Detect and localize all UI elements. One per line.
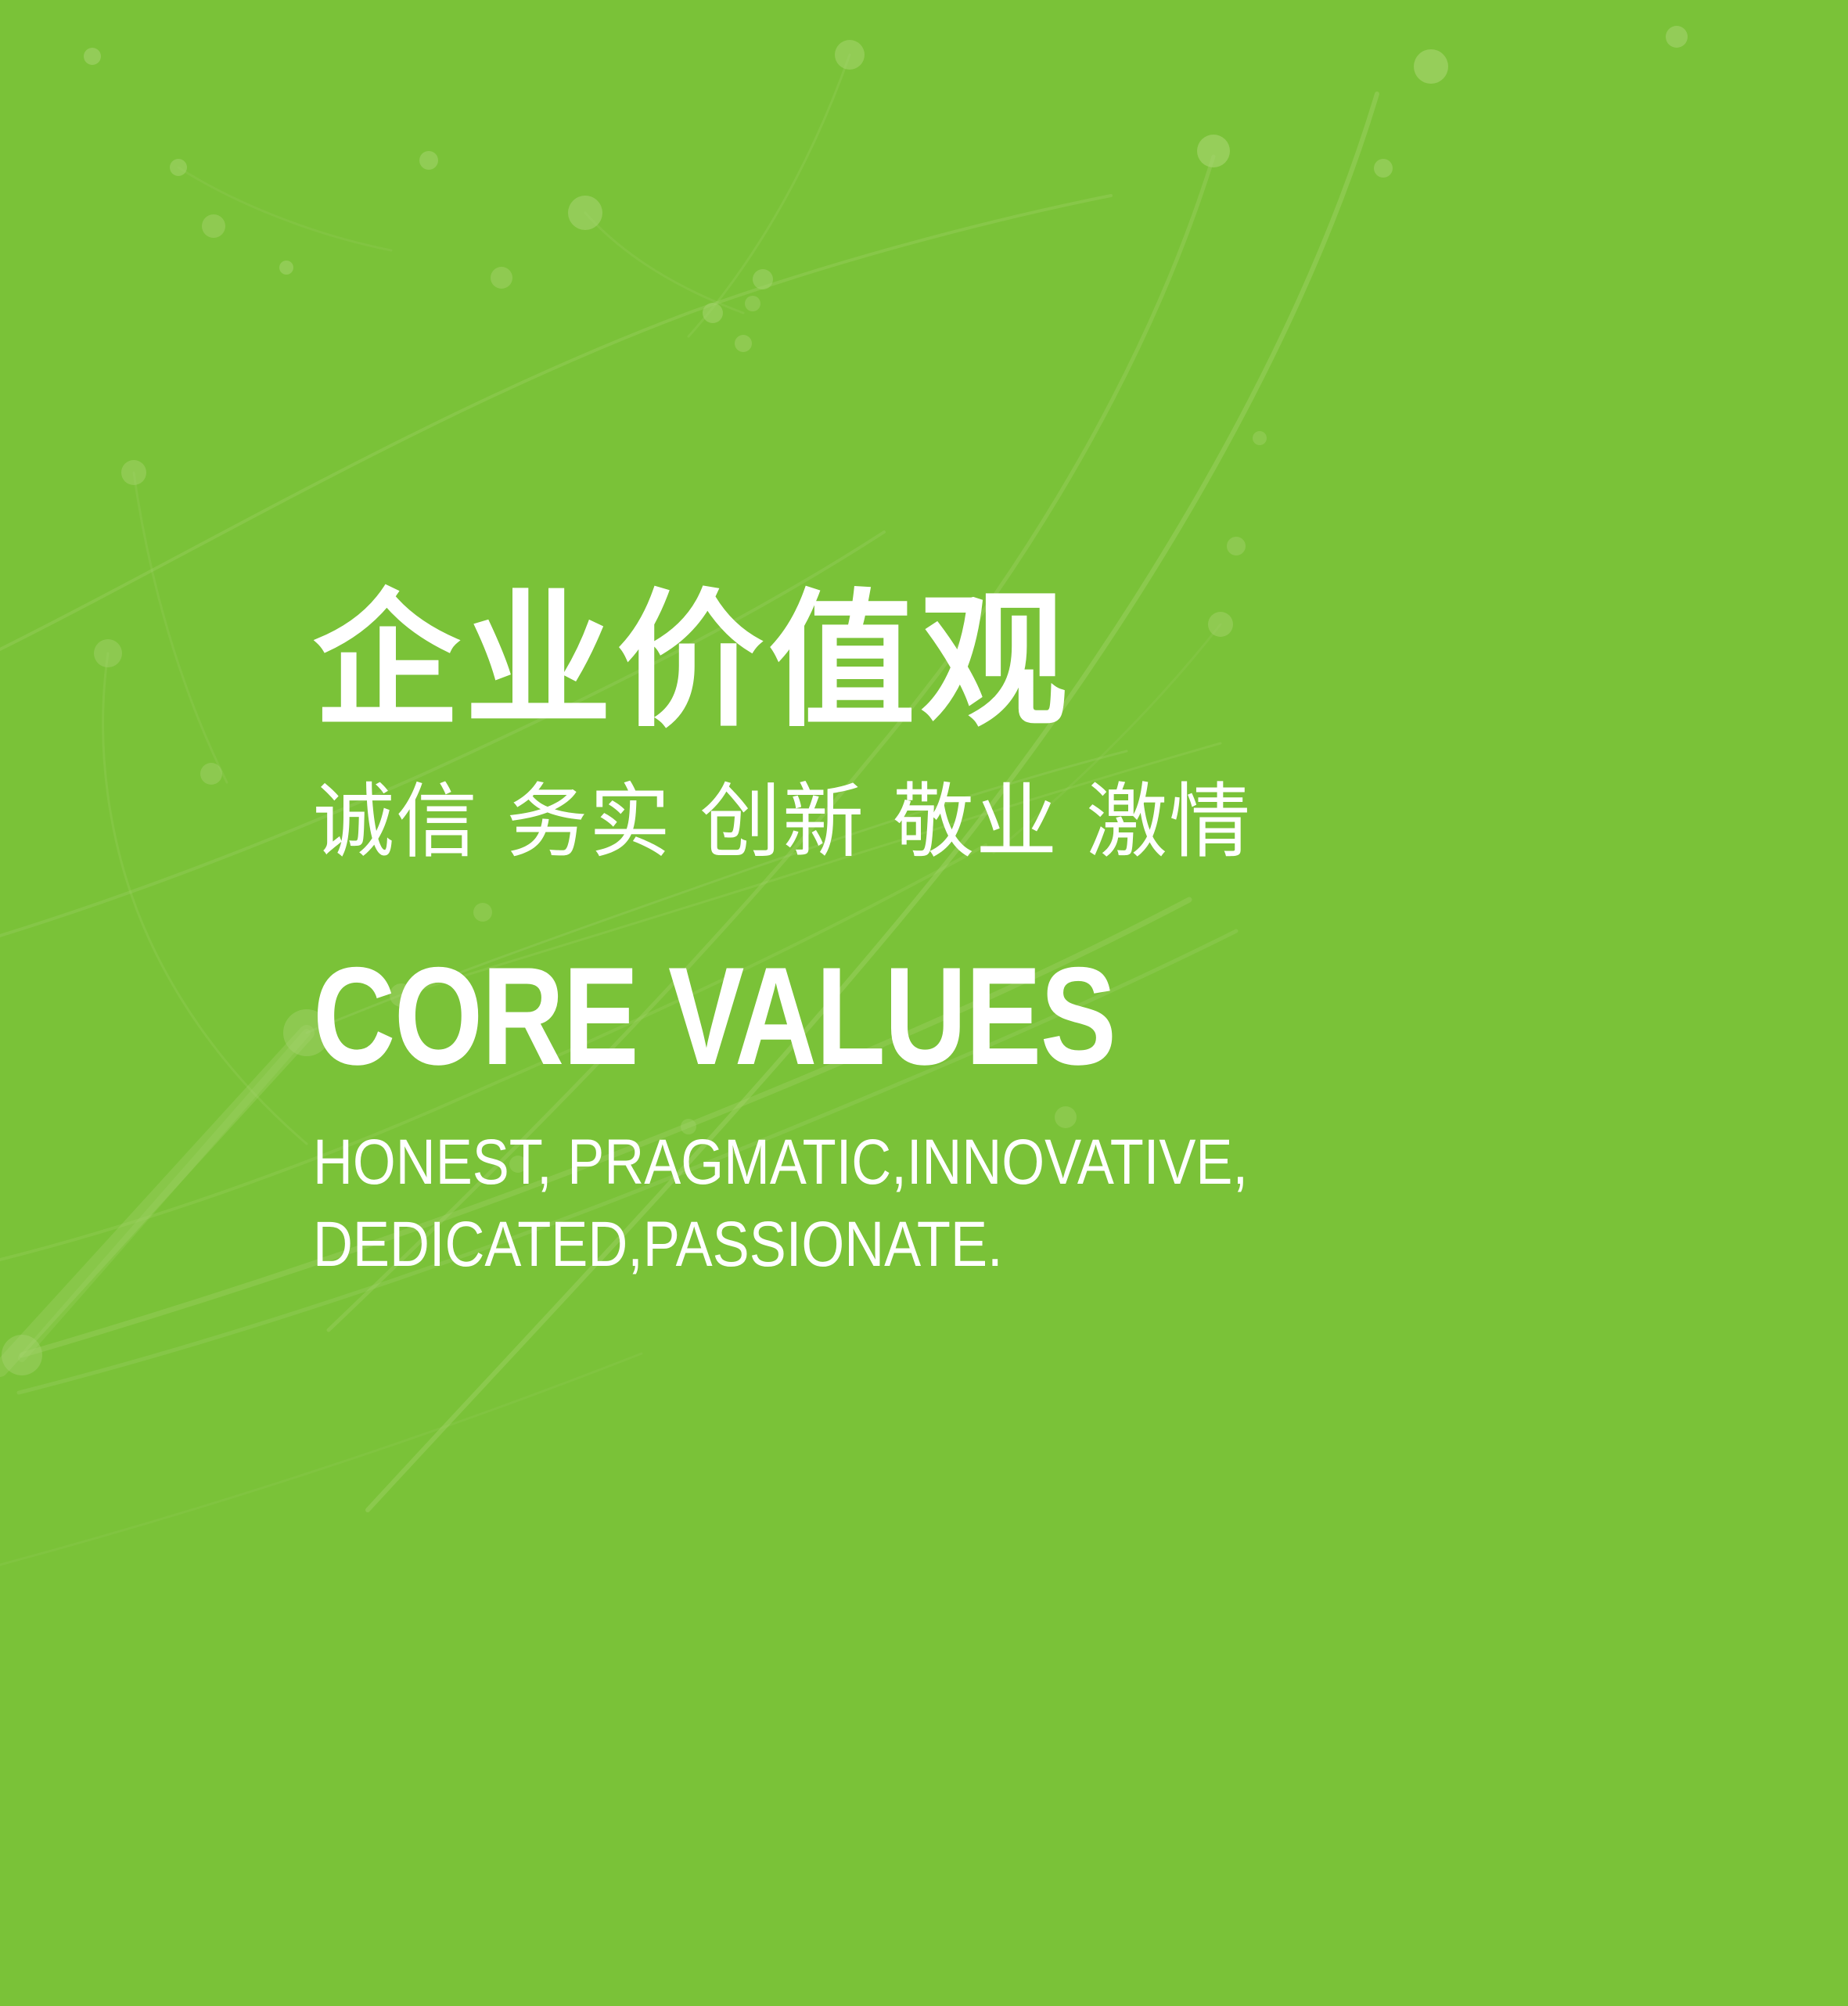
- network-node: [753, 269, 773, 289]
- page-subtitle-en-line-1: HONEST, PRAGMATIC,INNOVATIVE,: [313, 1122, 1558, 1204]
- network-node: [491, 267, 512, 289]
- network-node: [1666, 26, 1688, 48]
- text-block: 企业价值观 诚信 务实 创新 敬业 激情 CORE VALUES HONEST,…: [313, 588, 1760, 1286]
- network-node: [170, 159, 187, 176]
- network-node: [1253, 431, 1267, 445]
- network-node: [1414, 49, 1448, 84]
- network-node: [202, 214, 225, 238]
- network-node: [1227, 537, 1246, 555]
- network-node: [94, 639, 122, 667]
- page-subtitle-en-line-2: DEDICATED,PASSIONATE.: [313, 1204, 1558, 1286]
- network-node: [200, 763, 222, 785]
- network-node: [1374, 159, 1393, 178]
- network-node: [419, 151, 438, 170]
- page-title-en: CORE VALUES: [313, 947, 1500, 1086]
- network-node: [735, 335, 752, 352]
- network-node: [84, 48, 101, 65]
- page-subtitle-cn: 诚信 务实 创新 敬业 激情: [313, 781, 1760, 862]
- network-node: [1197, 135, 1230, 167]
- page-subtitle-en: HONEST, PRAGMATIC,INNOVATIVE, DEDICATED,…: [313, 1122, 1558, 1286]
- network-node: [279, 261, 293, 275]
- page-title-cn: 企业价值观: [313, 588, 1760, 735]
- network-node: [121, 460, 146, 485]
- network-node: [835, 40, 865, 70]
- network-node: [2, 1335, 42, 1375]
- network-node: [745, 296, 760, 311]
- network-node: [568, 196, 602, 230]
- core-values-banner: 企业价值观 诚信 务实 创新 敬业 激情 CORE VALUES HONEST,…: [0, 0, 1848, 2006]
- network-node: [703, 303, 723, 323]
